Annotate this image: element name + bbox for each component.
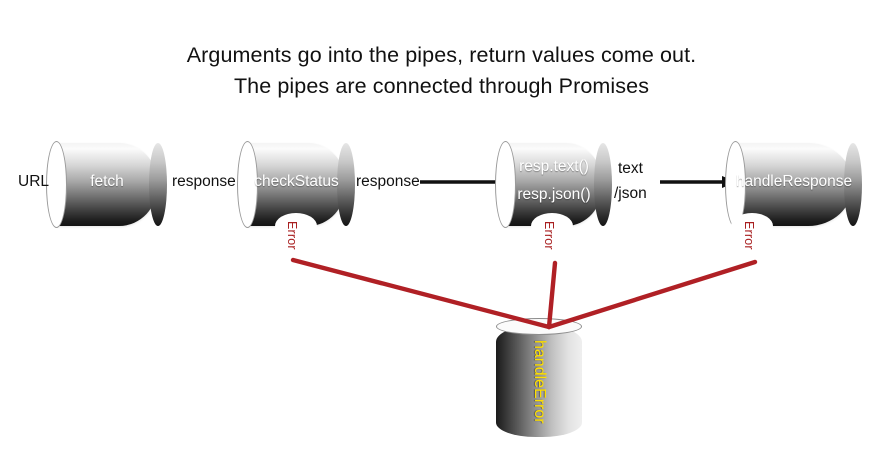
pipe-fetch-label: fetch [56, 172, 158, 193]
label-parse-output-line-2: /json [614, 184, 647, 203]
label-check-status-output: response [356, 172, 420, 191]
label-parse-output-line-1: text [618, 159, 643, 178]
label-fetch-output: response [172, 172, 236, 191]
pipe-resp-parse-mouth [495, 141, 516, 228]
pipe-fetch[interactable]: fetch [56, 143, 158, 226]
pipe-handle-error-mouth [496, 318, 582, 335]
pipe-resp-parse-label-2: resp.json() [505, 185, 603, 206]
error-label-resp-parse: Error [542, 221, 556, 250]
error-label-check-status: Error [285, 221, 299, 250]
title-line-2: The pipes are connected through Promises [0, 71, 883, 102]
pipe-check-status-label: checkStatus [247, 172, 346, 193]
error-line-handle-response [549, 262, 755, 327]
label-url-input: URL [18, 172, 49, 191]
pipe-resp-parse-label-1: resp.text() [505, 157, 603, 178]
error-label-handle-response: Error [742, 221, 756, 250]
error-line-check-status [293, 260, 549, 327]
title-line-1: Arguments go into the pipes, return valu… [0, 40, 883, 71]
pipe-check-status-mouth [237, 141, 258, 228]
pipe-fetch-mouth [46, 141, 67, 228]
diagram-title: Arguments go into the pipes, return valu… [0, 40, 883, 101]
pipe-handle-response-label: handleResponse [735, 172, 853, 193]
pipe-handle-error-label: handleError [530, 340, 548, 424]
diagram-canvas: Arguments go into the pipes, return valu… [0, 0, 883, 455]
